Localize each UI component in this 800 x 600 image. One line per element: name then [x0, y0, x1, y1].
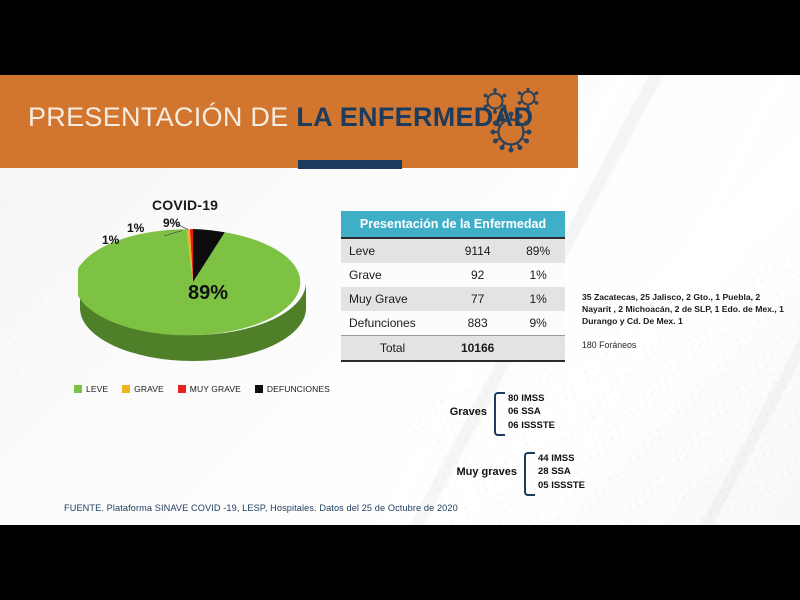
pie-data-label-grave: 1%	[102, 233, 119, 247]
coronavirus-icon	[478, 88, 550, 160]
table-row: Muy Grave 77 1%	[341, 287, 565, 311]
legend-swatch-defunciones	[255, 385, 263, 393]
brace-icon	[494, 392, 505, 436]
cell-pct: 1%	[511, 287, 565, 311]
cell-total-pct	[511, 336, 565, 362]
legend-item-muy-grave: MUY GRAVE	[178, 384, 241, 394]
cell-label: Leve	[341, 238, 444, 263]
pie-data-label-leve: 89%	[188, 282, 228, 305]
breakdown-item: 80 IMSS	[508, 392, 555, 405]
legend-swatch-leve	[74, 385, 82, 393]
breakdown-item: 44 IMSS	[538, 452, 585, 465]
legend-label-defunciones: DEFUNCIONES	[267, 384, 330, 394]
breakdown-item: 06 SSA	[508, 405, 555, 418]
foreign-cases-note: 180 Foráneos	[582, 340, 636, 350]
slide-root: PRESENTACIÓN DE LA ENFERMEDAD	[0, 0, 800, 600]
legend-item-leve: LEVE	[74, 384, 108, 394]
breakdown-muy-graves: Muy graves 44 IMSS 28 SSA 05 ISSSTE	[524, 452, 585, 492]
source-footer: FUENTE. Plataforma SINAVE COVID -19, LES…	[64, 503, 458, 513]
breakdown-label-muy-graves: Muy graves	[456, 466, 517, 478]
cell-label: Defunciones	[341, 311, 444, 336]
cell-label: Grave	[341, 263, 444, 287]
cell-count: 883	[444, 311, 511, 336]
brace-icon	[524, 452, 535, 496]
breakdown-items-graves: 80 IMSS 06 SSA 06 ISSSTE	[508, 392, 555, 432]
table-row: Defunciones 883 9%	[341, 311, 565, 336]
cell-pct: 9%	[511, 311, 565, 336]
breakdown-item: 05 ISSSTE	[538, 479, 585, 492]
table-header-title: Presentación de la Enfermedad	[341, 211, 565, 238]
cell-count: 92	[444, 263, 511, 287]
legend-item-grave: GRAVE	[122, 384, 164, 394]
breakdown-label-graves: Graves	[450, 406, 487, 418]
legend-item-defunciones: DEFUNCIONES	[255, 384, 330, 394]
header-accent-bar	[298, 160, 402, 169]
chart-legend: LEVE GRAVE MUY GRAVE DEFUNCIONES	[74, 384, 330, 394]
state-distribution-note: 35 Zacatecas, 25 Jalisco, 2 Gto., 1 Pueb…	[582, 292, 790, 328]
table-header-row: Presentación de la Enfermedad	[341, 211, 565, 238]
cell-total-label: Total	[341, 336, 444, 362]
cell-label: Muy Grave	[341, 287, 444, 311]
cell-total-count: 10166	[444, 336, 511, 362]
cell-pct: 1%	[511, 263, 565, 287]
cell-count: 77	[444, 287, 511, 311]
table-row: Leve 9114 89%	[341, 238, 565, 263]
table-total-row: Total 10166	[341, 336, 565, 362]
legend-label-leve: LEVE	[86, 384, 108, 394]
legend-swatch-muy-grave	[178, 385, 186, 393]
page-title-light: PRESENTACIÓN DE	[28, 102, 296, 132]
pie-data-label-defunciones: 9%	[163, 216, 180, 230]
legend-label-muy-grave: MUY GRAVE	[190, 384, 241, 394]
pie-data-label-muy-grave: 1%	[127, 221, 144, 235]
cell-pct: 89%	[511, 238, 565, 263]
breakdown-item: 28 SSA	[538, 465, 585, 478]
cell-count: 9114	[444, 238, 511, 263]
breakdown-item: 06 ISSSTE	[508, 419, 555, 432]
legend-label-grave: GRAVE	[134, 384, 164, 394]
table-row: Grave 92 1%	[341, 263, 565, 287]
breakdown-items-muy-graves: 44 IMSS 28 SSA 05 ISSSTE	[538, 452, 585, 492]
chart-title: COVID-19	[152, 197, 218, 213]
breakdown-graves: Graves 80 IMSS 06 SSA 06 ISSSTE	[494, 392, 555, 432]
disease-presentation-table: Presentación de la Enfermedad Leve 9114 …	[341, 211, 565, 362]
page-title: PRESENTACIÓN DE LA ENFERMEDAD	[28, 102, 533, 133]
legend-swatch-grave	[122, 385, 130, 393]
